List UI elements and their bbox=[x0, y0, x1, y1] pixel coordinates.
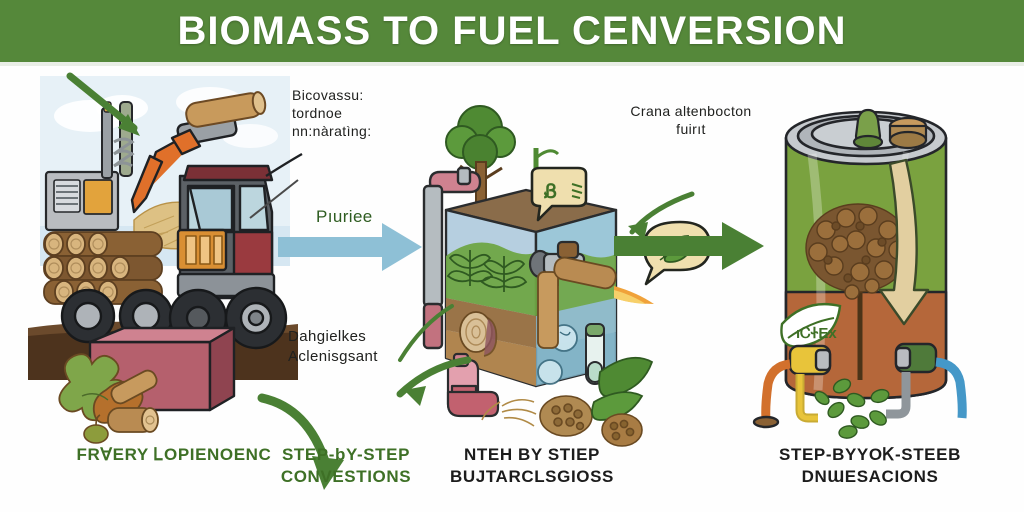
purifier-label: Pıuriee bbox=[316, 208, 373, 225]
arrow-biomass-source-down bbox=[56, 72, 176, 162]
digester-line-1: Dahgielkes bbox=[288, 327, 378, 347]
caption-step-by-step-biomass: NTEH BY STIEP BUJTARCLSGIOSS bbox=[424, 444, 640, 488]
caption-sbs-conversions-line-1: STEP-bY-STEP bbox=[256, 444, 436, 466]
page-title: BIOMASS TO FUEL CENVERSION bbox=[0, 0, 1024, 62]
biomass-sourcing-callout: Bicovassu: tordnoe nn:nàratìng: bbox=[292, 86, 372, 140]
bio-speech-badge-reactor: Ᏸ bbox=[524, 166, 594, 228]
clean-fuel-line-1: Crana alŧenbocton bbox=[606, 102, 776, 120]
infographic-poster: BIOMASS TO FUEL CENVERSION bbox=[0, 0, 1024, 512]
caption-sbs-right-line-2: DNƜESACIONS bbox=[752, 466, 988, 488]
autumn-leaves-and-logs-decor bbox=[52, 338, 222, 448]
digester-callout: Dahgielkes Aclenisgsant bbox=[288, 327, 378, 367]
digester-line-2: Aclenisgsant bbox=[288, 347, 378, 367]
arrow-harvest-to-reactor bbox=[278, 221, 424, 277]
purifier-callout: Pıuriee bbox=[316, 208, 373, 225]
biomass-sourcing-line-2: tordnoe bbox=[292, 104, 372, 122]
callout-leader-line bbox=[248, 174, 302, 222]
clean-fuel-callout: Crana alŧenbocton fuirıt bbox=[606, 102, 776, 138]
caption-sbs-biomass-line-1: NTEH BY STIEP bbox=[424, 444, 640, 466]
clean-fuel-line-2: fuirıt bbox=[606, 120, 776, 138]
caption-step-by-step-conversions: STEP-bY-STEP CONVESTIONS bbox=[256, 444, 436, 488]
left-sky-background bbox=[40, 76, 290, 266]
fuel-storage-tank-scene: ıᏟᏐEx bbox=[756, 80, 1006, 440]
biomass-processing-reactor-scene bbox=[418, 86, 658, 446]
arrow-digester-in bbox=[364, 354, 474, 434]
caption-step-by-step-conversions-right: STEP-BYYOᏦ-STEEB DNƜESACIONS bbox=[752, 444, 988, 488]
biomass-sourcing-line-3: nn:nàratìng: bbox=[292, 122, 372, 140]
bio-leaf-badge-text: ıᏟᏐEx bbox=[796, 325, 837, 342]
diagram-stage: ıᏟᏐEx bbox=[0, 66, 1024, 512]
arrow-fuel-in bbox=[596, 190, 706, 260]
biomass-sourcing-line-1: Bicovassu: bbox=[292, 86, 372, 104]
leaf-speech-bubble bbox=[642, 218, 718, 288]
caption-sbs-conversions-line-2: CONVESTIONS bbox=[256, 466, 436, 488]
bio-speech-badge-text: Ᏸ bbox=[543, 181, 557, 203]
biomass-harvesting-scene bbox=[28, 80, 298, 410]
arrow-reactor-connector bbox=[396, 302, 456, 372]
caption-sbs-right-line-1: STEP-BYYOᏦ-STEEB bbox=[752, 444, 988, 466]
arrow-reactor-to-tank bbox=[614, 218, 766, 274]
caption-sbs-biomass-line-2: BUJTARCLSGIOSS bbox=[424, 466, 640, 488]
